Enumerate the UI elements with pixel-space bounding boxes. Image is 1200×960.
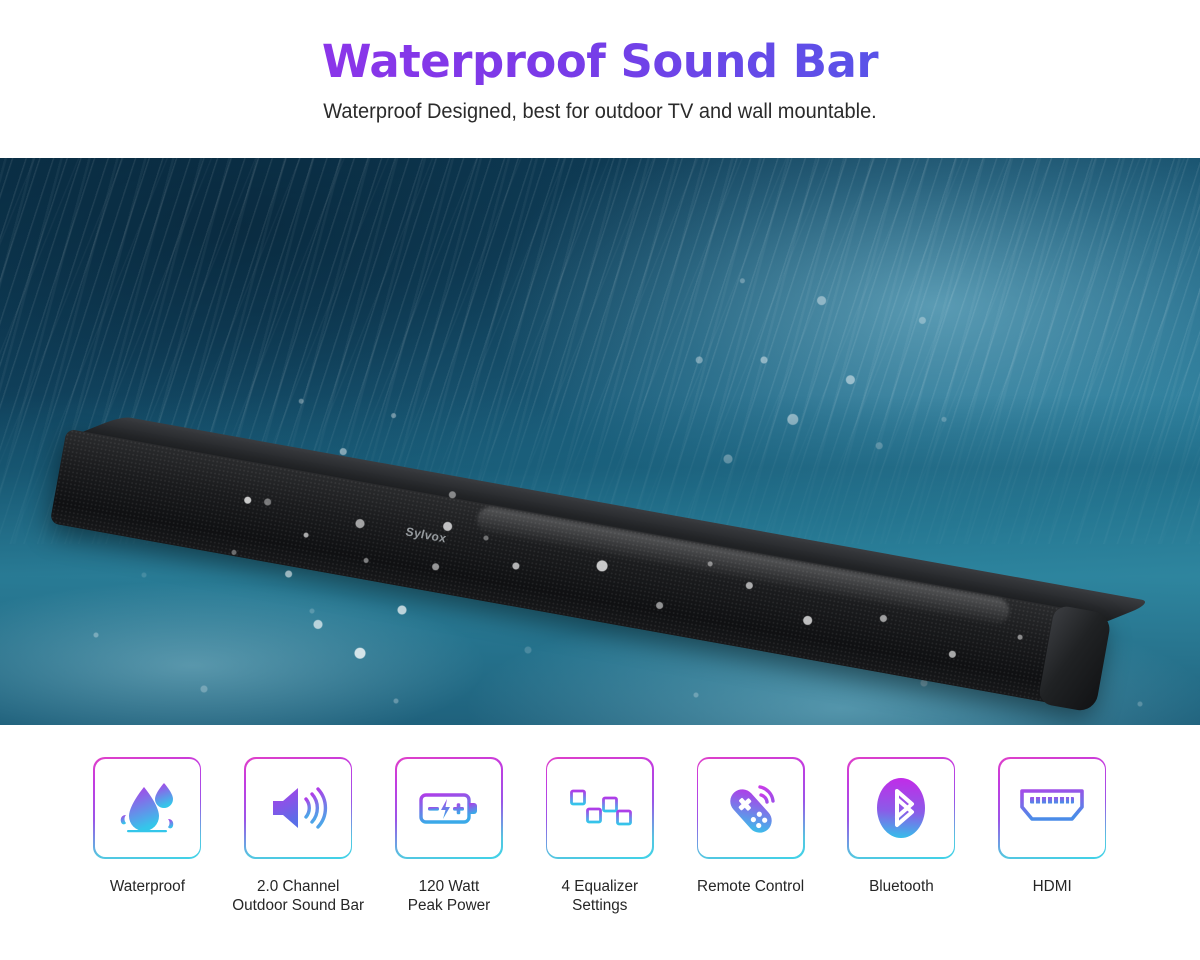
feature-icon-frame [697, 757, 805, 859]
feature-icon-surface [95, 759, 200, 858]
feature-item-channel[interactable]: 2.0 Channel Outdoor Sound Bar [223, 757, 374, 915]
feature-item-bluetooth[interactable]: Bluetooth [826, 757, 977, 896]
page-subtitle: Waterproof Designed, best for outdoor TV… [42, 85, 1158, 124]
feature-label: HDMI [1033, 877, 1072, 896]
feature-strip: Waterproof [0, 725, 1200, 960]
feature-label: 120 Watt Peak Power [408, 877, 490, 915]
feature-icon-frame [546, 757, 654, 859]
feature-icon-frame [847, 757, 955, 859]
hero-product-photo: Sylvox [0, 158, 1200, 725]
feature-item-hdmi[interactable]: HDMI [977, 757, 1128, 896]
feature-label: Remote Control [697, 877, 804, 896]
feature-icon-frame [244, 757, 352, 859]
battery-power-icon [416, 775, 482, 841]
feature-icon-frame [395, 757, 503, 859]
feature-icon-surface [1000, 759, 1105, 858]
page-header: Waterproof Sound Bar Waterproof Designed… [0, 0, 1200, 158]
feature-icon-frame [998, 757, 1106, 859]
feature-label: 2.0 Channel Outdoor Sound Bar [232, 877, 364, 915]
equalizer-sliders-icon [568, 776, 632, 840]
feature-label: Bluetooth [869, 877, 934, 896]
feature-item-remote[interactable]: Remote Control [675, 757, 826, 896]
water-splash-main [150, 358, 570, 718]
remote-control-icon [718, 775, 784, 841]
feature-icon-surface [849, 759, 954, 858]
feature-label: 4 Equalizer Settings [562, 877, 639, 915]
speaker-volume-icon [265, 775, 331, 841]
page-title: Waterproof Sound Bar [0, 0, 1200, 85]
feature-item-power[interactable]: 120 Watt Peak Power [374, 757, 525, 915]
feature-list: Waterproof [72, 757, 1128, 915]
feature-item-waterproof[interactable]: Waterproof [72, 757, 223, 896]
bluetooth-icon [870, 773, 932, 843]
hdmi-port-icon [1017, 782, 1087, 834]
feature-icon-surface [397, 759, 502, 858]
feature-icon-surface [246, 759, 351, 858]
water-drop-icon [114, 775, 180, 841]
feature-icon-surface [547, 759, 652, 858]
feature-label: Waterproof [110, 877, 185, 896]
feature-icon-surface [698, 759, 803, 858]
feature-icon-frame [93, 757, 201, 859]
product-feature-page: Waterproof Sound Bar Waterproof Designed… [0, 0, 1200, 960]
feature-item-equalizer[interactable]: 4 Equalizer Settings [524, 757, 675, 915]
